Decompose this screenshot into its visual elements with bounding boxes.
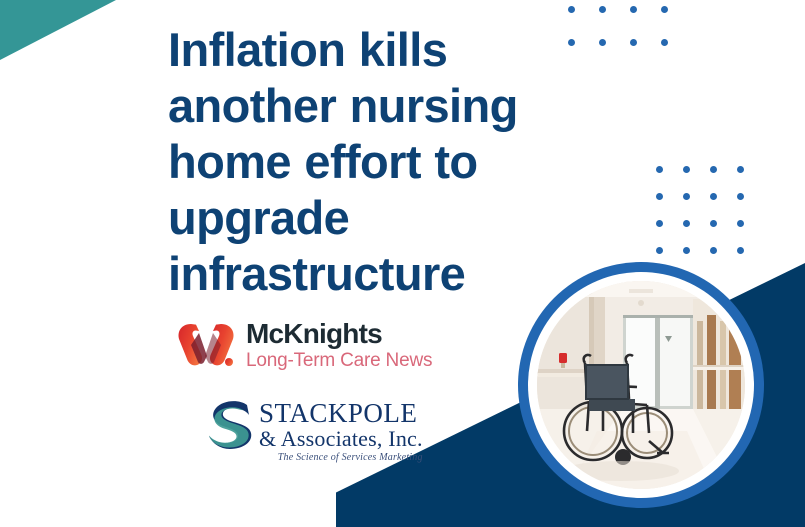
dot — [710, 193, 717, 200]
dot — [661, 39, 668, 46]
dot — [683, 193, 690, 200]
dot — [656, 220, 663, 227]
dot — [599, 39, 606, 46]
dot — [683, 220, 690, 227]
stackpole-s-swoosh-icon — [203, 398, 257, 456]
headline: Inflation kills another nursing home eff… — [168, 22, 588, 302]
dot — [656, 247, 663, 254]
dot — [710, 220, 717, 227]
dot — [683, 166, 690, 173]
stackpole-logo: STACKPOLE & Associates, Inc. The Science… — [203, 396, 449, 458]
mcknights-tagline: Long-Term Care News — [246, 349, 432, 372]
dot — [683, 247, 690, 254]
stackpole-slogan: The Science of Services Marketing — [259, 451, 423, 464]
mcknights-wordmark-block: McKnights Long-Term Care News — [246, 317, 432, 372]
dot-grid-middle — [656, 166, 764, 274]
photo-circle-white-gap — [528, 272, 754, 498]
photo-wheelchair-corridor — [537, 281, 745, 489]
dot — [737, 247, 744, 254]
dot — [656, 193, 663, 200]
teal-corner-triangle — [0, 0, 116, 60]
mcknights-interlocking-m-icon — [177, 318, 235, 370]
dot — [737, 166, 744, 173]
promo-card: Inflation kills another nursing home eff… — [0, 0, 805, 527]
dot — [630, 39, 637, 46]
stackpole-text-block: STACKPOLE & Associates, Inc. The Science… — [259, 396, 423, 464]
dot — [737, 220, 744, 227]
mcknights-wordmark: McKnights — [246, 319, 432, 349]
dot — [656, 166, 663, 173]
stackpole-associates: & Associates, Inc. — [259, 427, 423, 451]
mcknights-logo: McKnights Long-Term Care News — [177, 312, 437, 376]
corridor-scene-illustration — [537, 281, 745, 489]
dot — [661, 6, 668, 13]
stackpole-name: STACKPOLE — [259, 399, 423, 427]
dot — [710, 166, 717, 173]
dot — [630, 6, 637, 13]
dot — [599, 6, 606, 13]
dot — [568, 6, 575, 13]
photo-circle-ring — [518, 262, 764, 508]
dot — [737, 193, 744, 200]
dot — [710, 247, 717, 254]
